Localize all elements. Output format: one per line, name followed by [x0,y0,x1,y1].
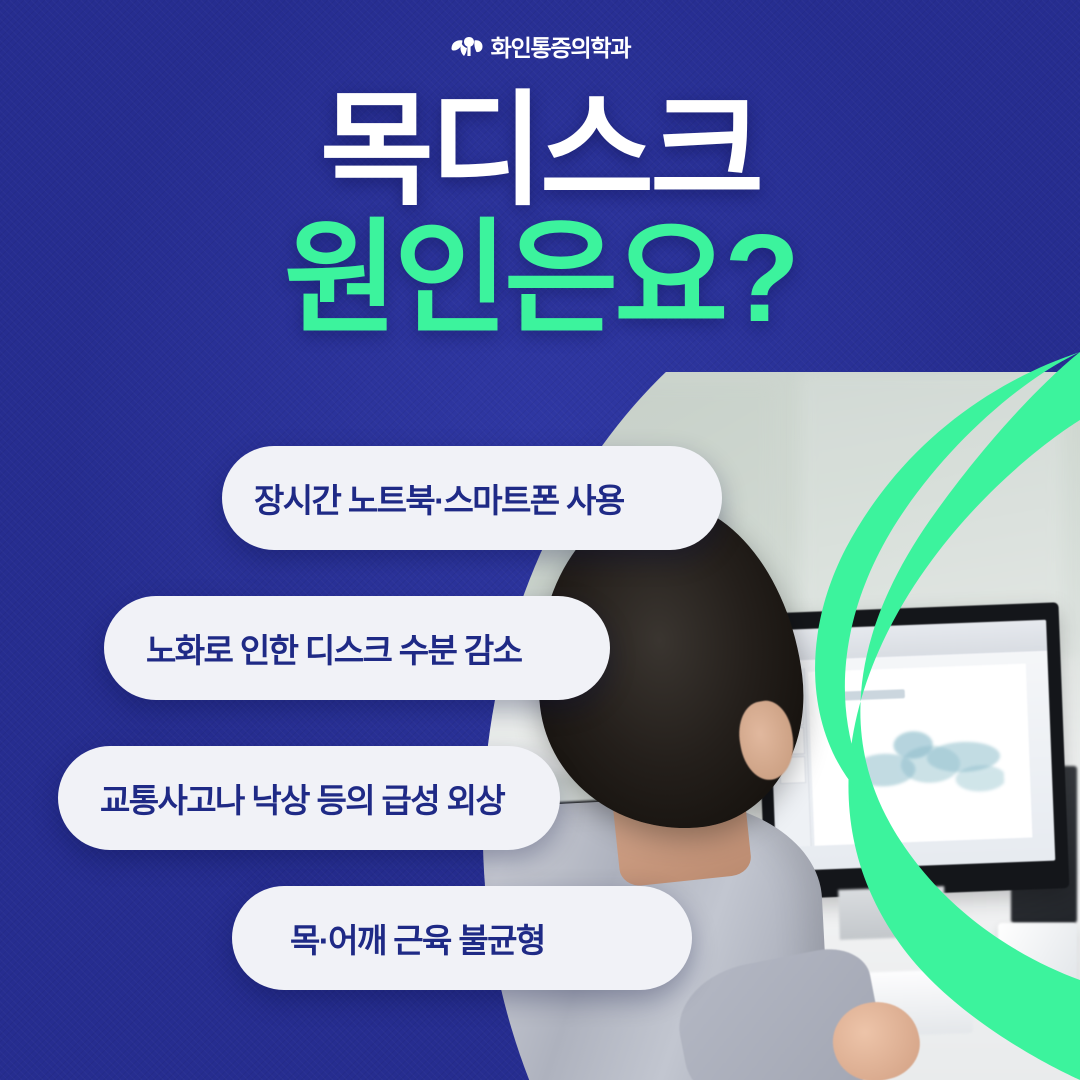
cause-item-2[interactable]: 노화로 인한 디스크 수분 감소 [104,596,610,700]
cause-item-3[interactable]: 교통사고나 낙상 등의 급성 외상 [58,746,560,850]
cause-label: 목·어깨 근육 불균형 [290,914,545,962]
brand-logo[interactable]: 화인통증의학과 [0,34,1080,62]
cause-label: 노화로 인한 디스크 수분 감소 [146,624,521,672]
coffee-cup [998,923,1077,1009]
leaf-sprout-icon [450,34,484,62]
headline-line-2: 원인은요? [0,216,1080,342]
world-map-graphic [836,703,1005,810]
brand-name: 화인통증의학과 [491,37,631,60]
cause-item-4[interactable]: 목·어깨 근육 불균형 [232,886,692,990]
headline-line-1: 목디스크 [0,88,1080,214]
poster-canvas: 화인통증의학과 목디스크 원인은요? 장시간 노트북·스마트폰 사용 노화로 인… [0,0,1080,1080]
shirt-fold [430,1061,442,1080]
monitor-screen [767,620,1055,871]
monitor-stand [838,886,945,940]
slide-title-bar [839,690,905,701]
shirt-fold [495,1071,519,1080]
cause-item-1[interactable]: 장시간 노트북·스마트폰 사용 [222,446,722,550]
cause-label: 교통사고나 낙상 등의 급성 외상 [100,774,504,822]
monitor-app-toolbar [767,620,1047,662]
page-title: 목디스크 원인은요? [0,88,1080,343]
slide-canvas [808,664,1032,845]
cause-label: 장시간 노트북·스마트폰 사용 [254,474,624,522]
